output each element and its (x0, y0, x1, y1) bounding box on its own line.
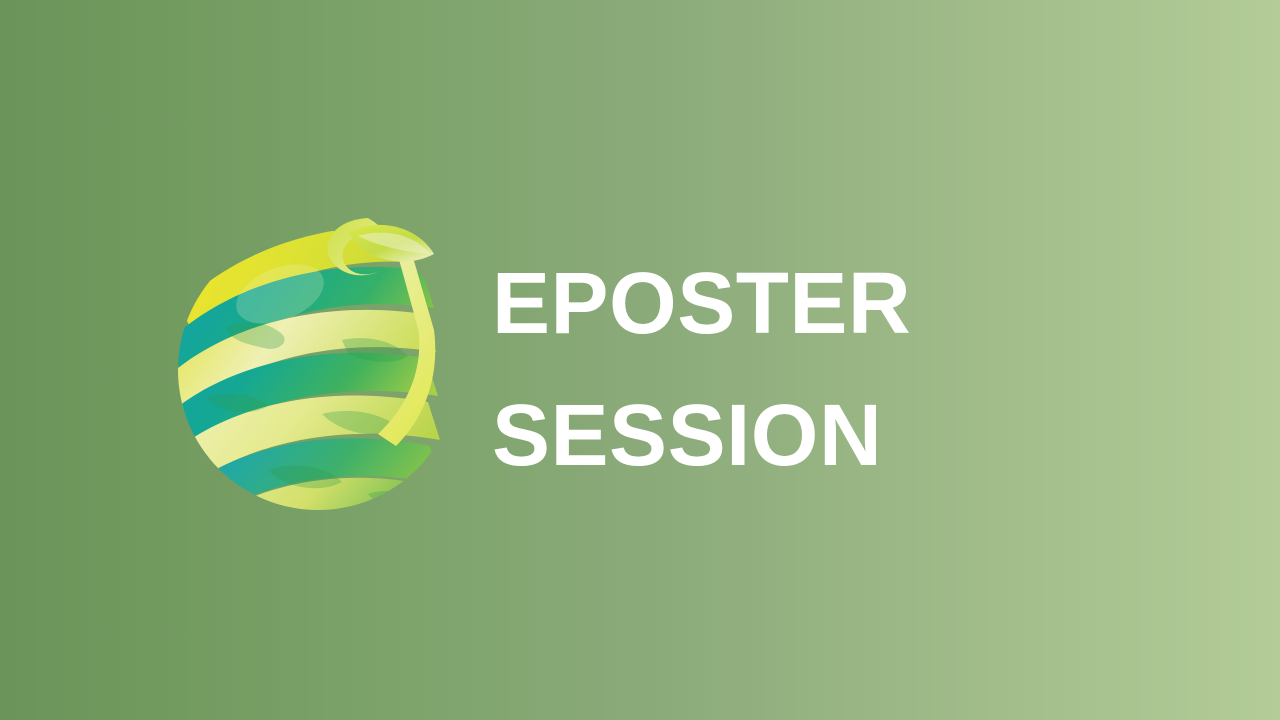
slide-canvas: EPOSTER SESSION (0, 0, 1280, 720)
wordmark-line-eposter: EPOSTER (492, 238, 1012, 370)
striped-globe-sprout-logo (172, 202, 464, 518)
wordmark: EPOSTER SESSION (492, 238, 1012, 502)
wordmark-line-session: SESSION (492, 370, 1012, 502)
globe-ribbon-bands (172, 226, 440, 518)
